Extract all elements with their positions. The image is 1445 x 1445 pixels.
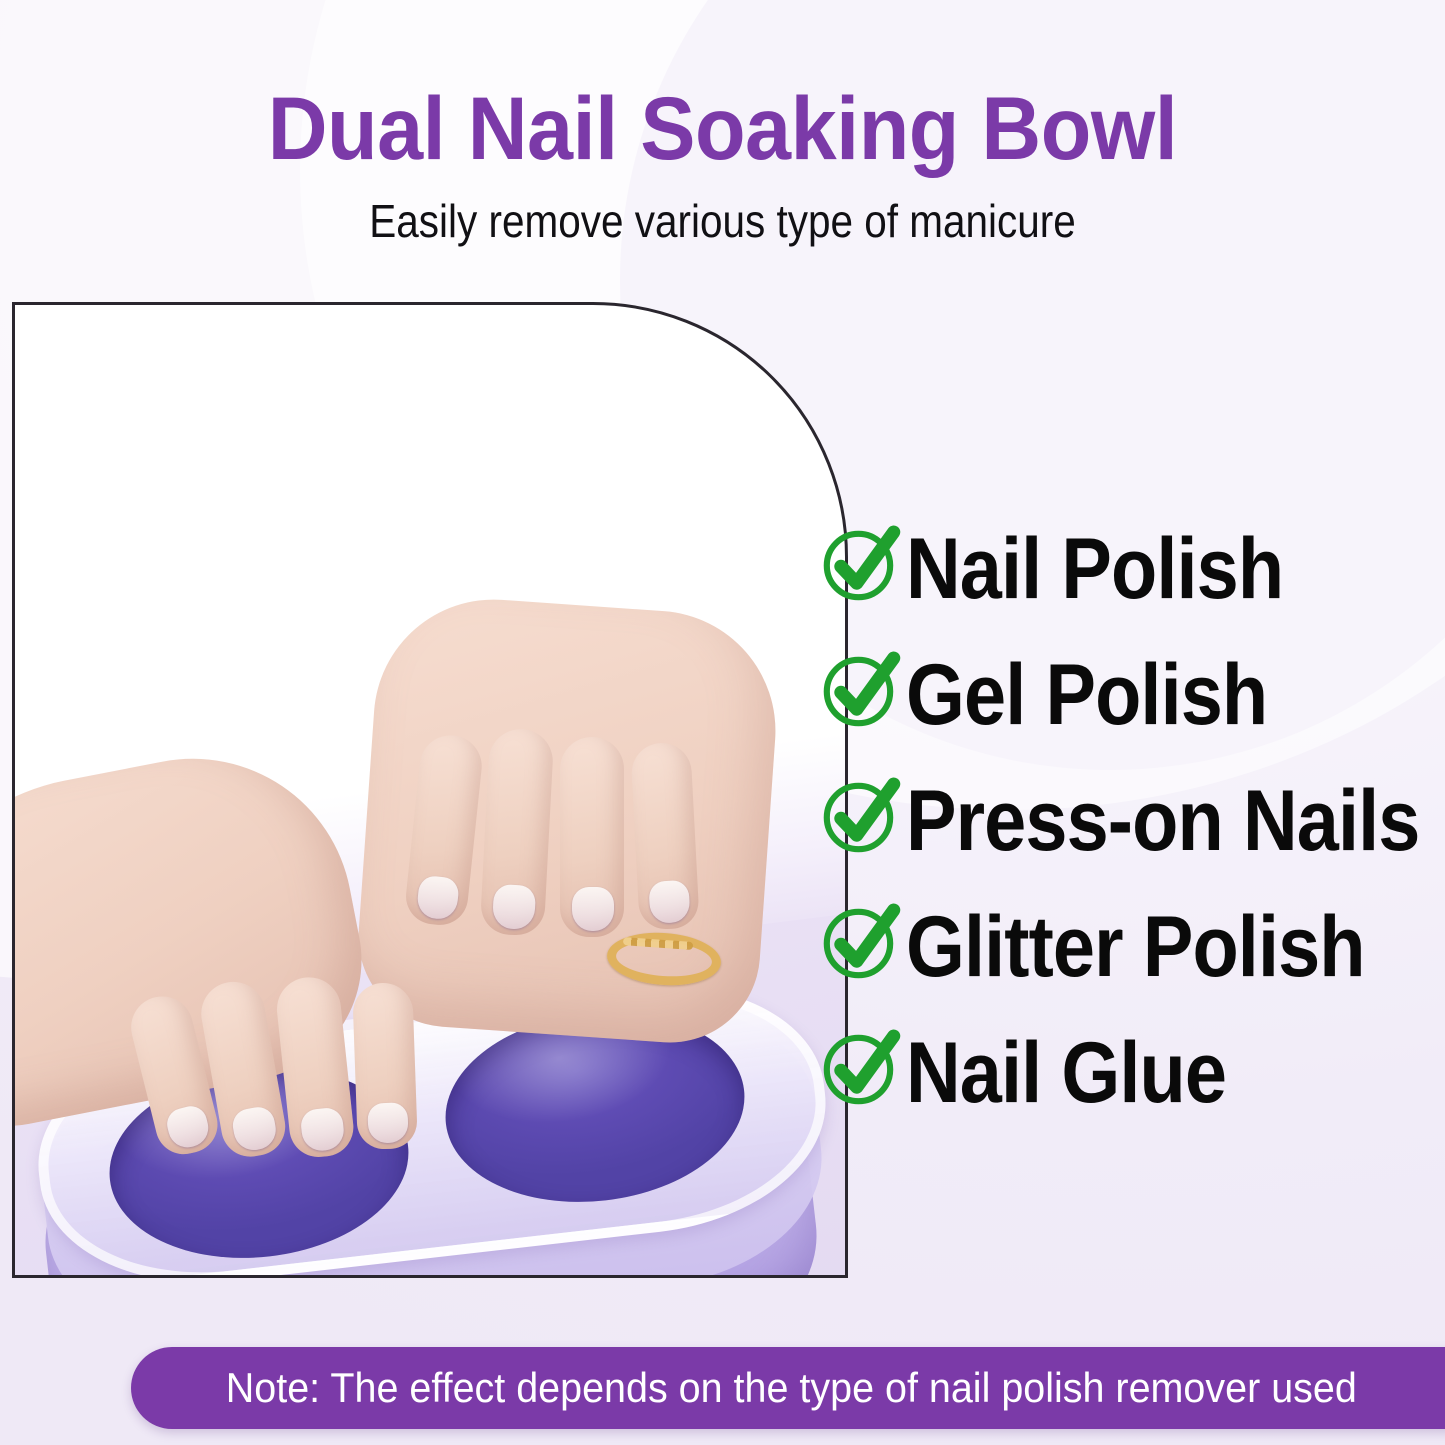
check-circle-icon: [818, 770, 906, 858]
checklist-item: Nail Glue: [818, 1012, 1438, 1138]
product-photo: [12, 302, 848, 1278]
nail-r4: [648, 880, 690, 924]
checklist-item-label: Glitter Polish: [906, 884, 1365, 1010]
note-banner: Note: The effect depends on the type of …: [131, 1347, 1445, 1429]
checklist-item-label: Nail Polish: [906, 506, 1283, 632]
product-photo-scene: [15, 305, 845, 1275]
page-title: Dual Nail Soaking Bowl: [51, 0, 1395, 173]
nail-r2: [492, 884, 536, 930]
finger-l4: [352, 982, 418, 1150]
finger-r3: [560, 737, 624, 937]
benefits-checklist: Nail Polish Gel Polish Press-on Nails: [818, 508, 1438, 1138]
check-circle-icon: [818, 644, 906, 732]
check-circle-icon: [818, 896, 906, 984]
nail-r3: [572, 887, 614, 931]
finger-r2: [480, 727, 555, 936]
nail-l3: [299, 1106, 345, 1152]
infographic-stage: Dual Nail Soaking Bowl Easily remove var…: [0, 0, 1445, 1445]
nail-r1: [416, 875, 460, 921]
finger-r4: [630, 742, 700, 931]
check-circle-icon: [818, 518, 906, 606]
checklist-item: Gel Polish: [818, 634, 1438, 760]
header: Dual Nail Soaking Bowl Easily remove var…: [0, 0, 1445, 245]
nail-l1: [164, 1103, 212, 1151]
checklist-item-label: Nail Glue: [906, 1010, 1226, 1136]
check-circle-icon: [818, 1022, 906, 1110]
page-subtitle: Easily remove various type of manicure: [87, 173, 1359, 245]
checklist-item: Glitter Polish: [818, 886, 1438, 1012]
nail-l4: [367, 1102, 408, 1143]
checklist-item-label: Press-on Nails: [906, 758, 1419, 884]
checklist-item-label: Gel Polish: [906, 632, 1267, 758]
checklist-item: Press-on Nails: [818, 760, 1438, 886]
note-text: Note: The effect depends on the type of …: [171, 1347, 1421, 1429]
nail-l2: [230, 1105, 279, 1154]
checklist-item: Nail Polish: [818, 508, 1438, 634]
